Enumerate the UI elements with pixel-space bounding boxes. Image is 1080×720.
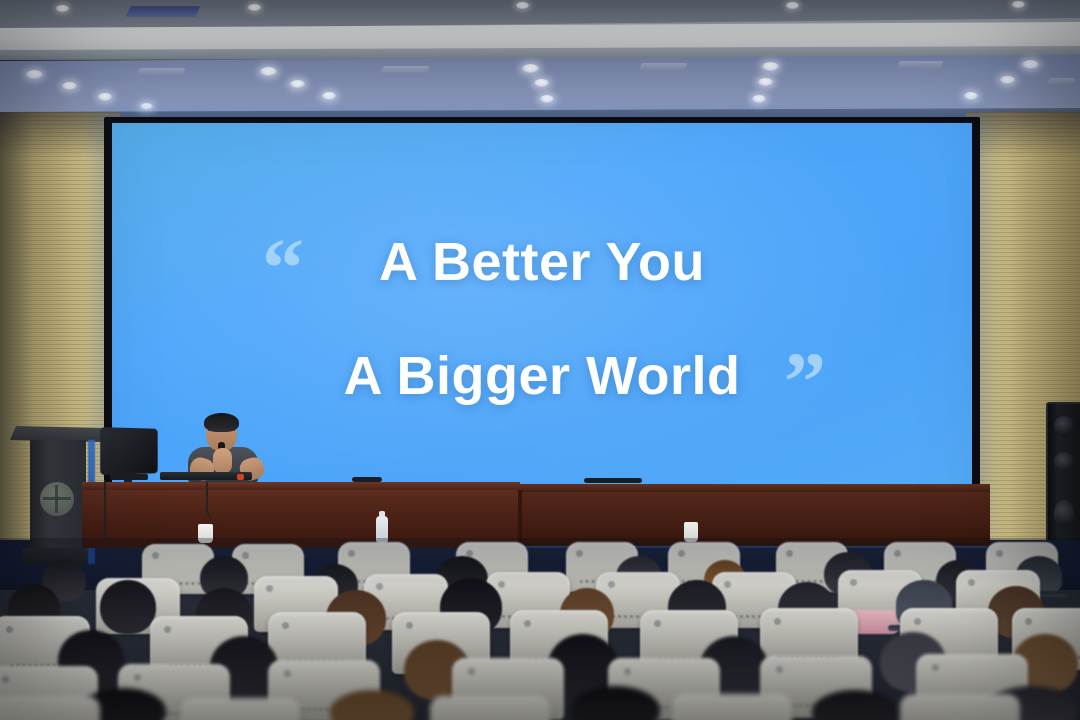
microphone-indicator-icon — [237, 474, 244, 480]
seat — [430, 696, 550, 720]
ceiling-air-vent-icon — [1046, 78, 1075, 86]
presenter-glasses-icon — [208, 429, 235, 437]
seat-back-logo-icon — [164, 626, 171, 633]
desktop-monitor — [100, 427, 157, 475]
seat-back-logo-icon — [152, 552, 159, 559]
ceiling-downlight-icon — [534, 79, 549, 87]
seat-back-logo-icon — [242, 552, 249, 559]
left-wall-shade — [0, 112, 120, 158]
seat — [180, 698, 300, 720]
seat-back-logo-icon — [786, 550, 793, 557]
ceiling-downlight-icon — [786, 2, 799, 9]
ceiling-downlight-icon — [1022, 60, 1039, 69]
seat-back-logo-icon — [266, 585, 273, 592]
ceiling-downlight-icon — [322, 92, 336, 100]
seat — [672, 694, 792, 720]
right-wall-shade — [966, 112, 1080, 158]
ceiling-downlight-icon — [62, 82, 77, 90]
seat — [0, 696, 100, 720]
pa-speaker-driver-icon — [1054, 416, 1074, 436]
seat-back-logo-icon — [406, 622, 413, 629]
seat-back-logo-icon — [654, 620, 661, 627]
lecture-hall-scene: “ A Better You A Bigger World ” — [0, 0, 1080, 720]
seat-back-logo-icon — [2, 676, 9, 683]
seat-back-logo-icon — [468, 668, 475, 675]
pa-speaker-driver-icon — [1054, 500, 1074, 528]
seat-back-logo-icon — [932, 664, 939, 671]
seat-back-logo-icon — [576, 550, 583, 557]
ceiling-downlight-icon — [140, 103, 153, 110]
seat-back-logo-icon — [996, 550, 1003, 557]
ceiling-air-vent-icon — [380, 66, 429, 74]
ceiling-air-vent-icon — [896, 61, 943, 69]
seat-back-logo-icon — [6, 626, 13, 633]
ceiling-downlight-icon — [56, 5, 69, 12]
ceiling-air-vent-icon — [638, 63, 687, 71]
ceiling-downlight-icon — [964, 92, 978, 100]
ceiling-downlight-icon — [516, 2, 529, 9]
desk-cable — [104, 480, 128, 546]
ceiling-downlight-icon — [1000, 76, 1015, 84]
seat-back-logo-icon — [376, 583, 383, 590]
seat-back-logo-icon — [498, 581, 505, 588]
seat — [900, 694, 1020, 720]
seat-back-logo-icon — [724, 581, 731, 588]
presenter-clasped-hands — [213, 448, 232, 474]
ceiling-downlight-icon — [522, 64, 539, 73]
seat-back-logo-icon — [774, 618, 781, 625]
desk-cable — [206, 482, 224, 522]
audience-head — [100, 580, 156, 634]
seat-back-logo-icon — [134, 674, 141, 681]
ceiling-downlight-icon — [260, 67, 277, 76]
pa-speaker-driver-icon — [1054, 452, 1074, 472]
ceiling-downlight-icon — [290, 80, 305, 88]
seat-back-logo-icon — [524, 620, 531, 627]
seat-back-logo-icon — [348, 550, 355, 557]
seat-back-logo-icon — [850, 579, 857, 586]
ceiling-downlight-icon — [26, 70, 43, 79]
ceiling-downlight-icon — [752, 95, 766, 103]
desk-device — [584, 478, 642, 483]
seat-back-logo-icon — [1025, 618, 1032, 625]
slide-headline-line-1: A Better You — [112, 231, 972, 293]
ceiling-downlight-icon — [758, 78, 773, 86]
seat-back-logo-icon — [284, 670, 291, 677]
seat-back-logo-icon — [776, 666, 783, 673]
ceiling-downlight-icon — [248, 4, 261, 11]
head-table-surface-right — [520, 484, 990, 492]
ceiling-downlight-icon — [98, 93, 112, 101]
seat-back-logo-icon — [624, 668, 631, 675]
ceiling-air-vent-icon — [126, 6, 201, 17]
ceiling-downlight-icon — [540, 95, 554, 103]
seat-back-logo-icon — [968, 579, 975, 586]
slide-headline-line-2: A Bigger World — [112, 345, 972, 407]
ceiling-downlight-icon — [762, 62, 779, 71]
seat-back-logo-icon — [678, 550, 685, 557]
closing-quote-mark: ” — [784, 341, 826, 425]
seat-back-logo-icon — [282, 622, 289, 629]
ceiling-air-vent-icon — [136, 68, 185, 76]
seat-back-logo-icon — [894, 550, 901, 557]
university-crest-icon — [40, 482, 74, 516]
ceiling-downlight-icon — [1012, 1, 1025, 8]
seat-back-logo-icon — [914, 618, 921, 625]
head-table-surface-left — [82, 482, 520, 490]
desk-device — [352, 477, 382, 482]
seat-back-logo-icon — [608, 581, 615, 588]
audience-area — [0, 538, 1080, 720]
